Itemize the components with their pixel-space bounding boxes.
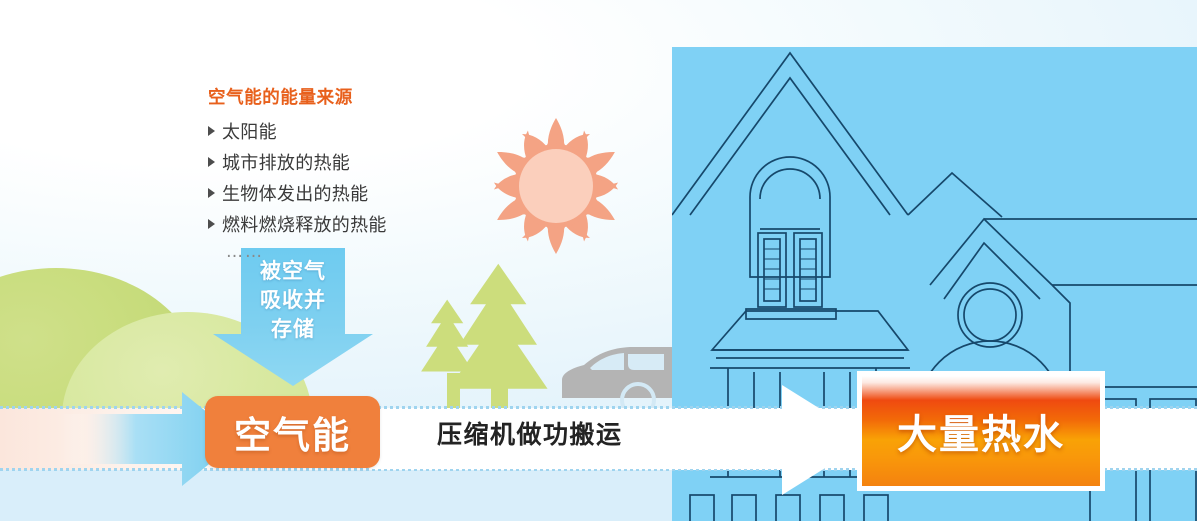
list-item-label: 生物体发出的热能 bbox=[222, 180, 368, 206]
list-item: 燃料燃烧释放的热能 bbox=[208, 211, 528, 237]
air-energy-label: 空气能 bbox=[234, 405, 351, 459]
compressor-label: 压缩机做功搬运 bbox=[437, 415, 623, 451]
list-item-label: 燃料燃烧释放的热能 bbox=[222, 211, 387, 237]
hot-water-box[interactable]: 大量热水 bbox=[862, 376, 1100, 486]
list-item-label: 城市排放的热能 bbox=[222, 149, 350, 175]
list-item: 生物体发出的热能 bbox=[208, 180, 528, 206]
triangle-bullet-icon bbox=[208, 188, 215, 198]
list-item: 城市排放的热能 bbox=[208, 149, 528, 175]
energy-source-panel: 空气能的能量来源 太阳能 城市排放的热能 生物体发出的热能 燃料燃烧释放的热能 … bbox=[208, 84, 528, 262]
list-item-label: 太阳能 bbox=[222, 118, 277, 144]
triangle-bullet-icon bbox=[208, 157, 215, 167]
triangle-bullet-icon bbox=[208, 126, 215, 136]
hot-water-label: 大量热水 bbox=[897, 402, 1065, 460]
panel-title: 空气能的能量来源 bbox=[208, 84, 528, 109]
absorb-down-arrow bbox=[213, 248, 373, 386]
energy-source-list: 太阳能 城市排放的热能 生物体发出的热能 燃料燃烧释放的热能 bbox=[208, 118, 528, 237]
list-ellipsis: …… bbox=[226, 242, 528, 262]
infographic-canvas: 被空气 吸收并 存储 空气能 压缩机做功搬运 bbox=[0, 0, 1197, 521]
triangle-bullet-icon bbox=[208, 219, 215, 229]
list-item: 太阳能 bbox=[208, 118, 528, 144]
air-energy-box[interactable]: 空气能 bbox=[205, 396, 380, 468]
